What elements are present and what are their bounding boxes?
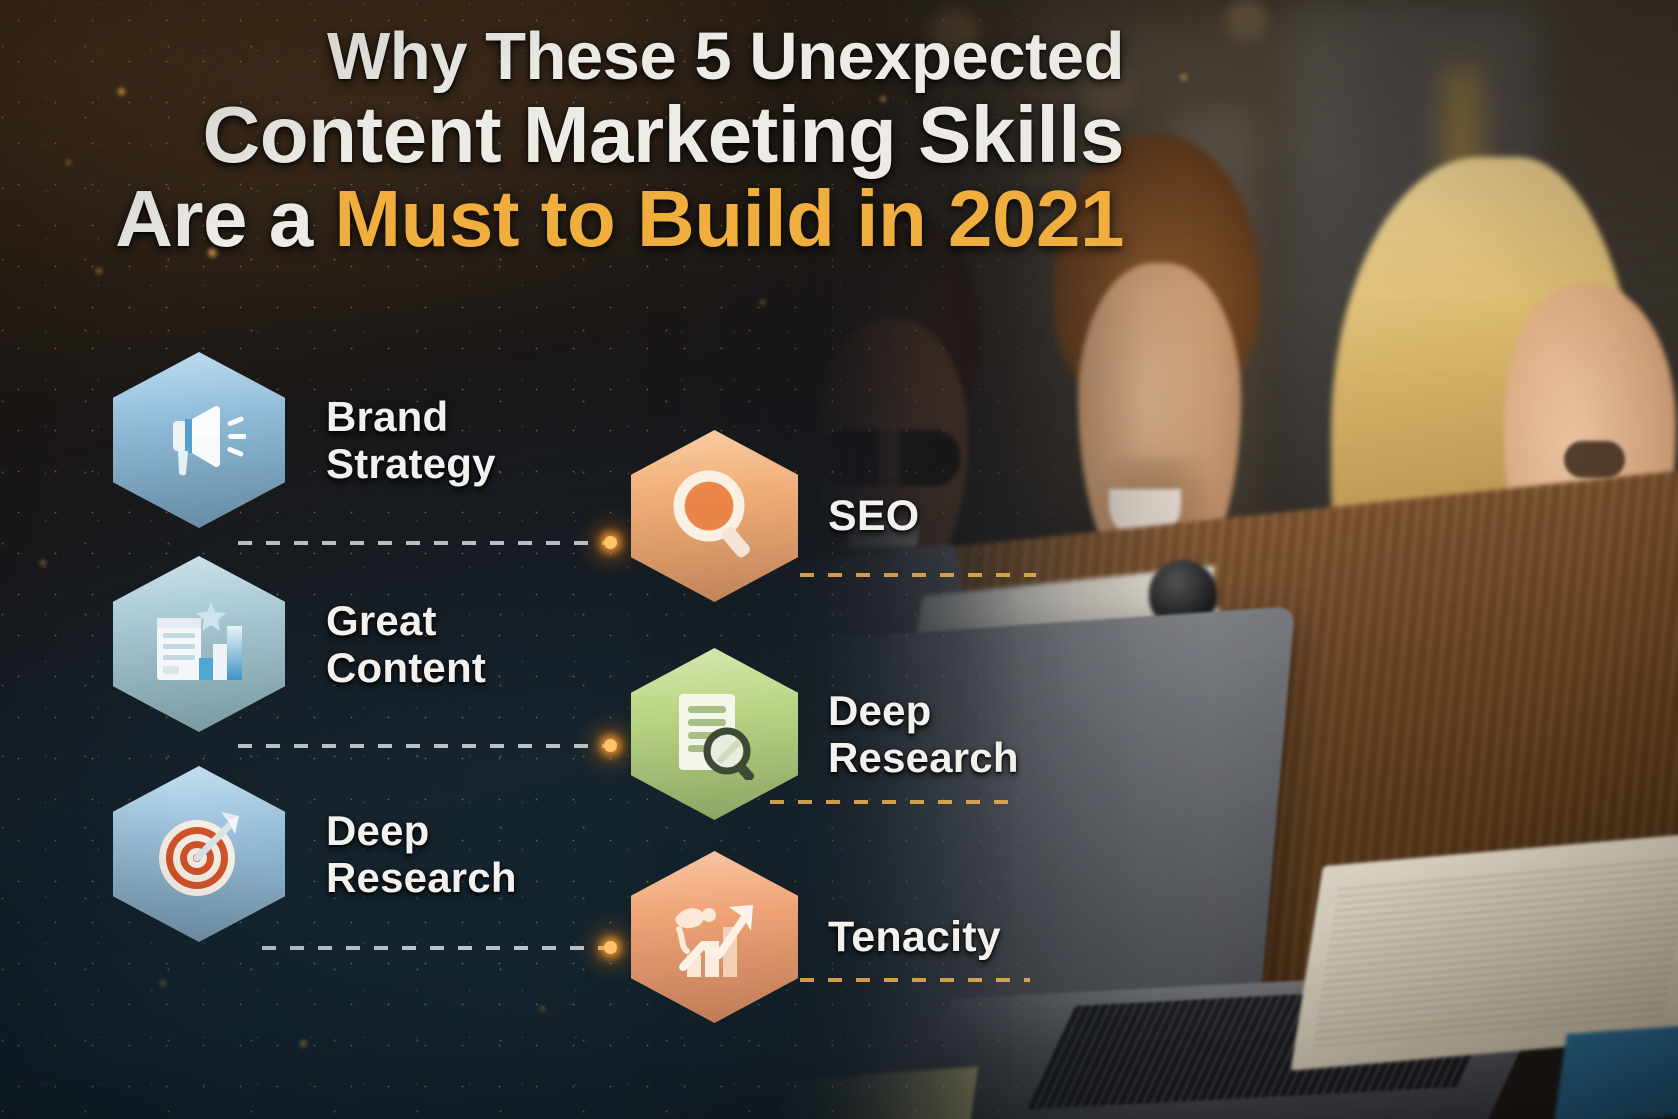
skill-seo[interactable]: SEO	[631, 430, 919, 602]
connector-brand-strategy	[238, 541, 610, 545]
skill-label-tenacity: Tenacity	[828, 913, 1001, 961]
skill-label-deep-research-left: Deep Research	[326, 807, 517, 901]
badge-seo[interactable]	[631, 430, 798, 602]
infographic-canvas: Why These 5 Unexpected Content Marketing…	[0, 0, 1678, 1119]
skill-deep-research-left[interactable]: Deep Research	[113, 766, 517, 942]
skill-deep-research-right[interactable]: Deep Research	[631, 648, 1019, 820]
skill-label-great-content: Great Content	[326, 597, 486, 691]
connector-dot-2	[604, 739, 617, 752]
document-magnifier-icon	[669, 688, 761, 780]
skill-brand-strategy[interactable]: Brand Strategy	[113, 352, 496, 528]
teal-book	[1554, 1023, 1678, 1119]
title-line-1: Why These 5 Unexpected	[0, 24, 1124, 90]
title-line-3-plain: Are a	[115, 174, 334, 263]
skill-tenacity[interactable]: Tenacity	[631, 851, 1001, 1023]
connector-dot-3	[604, 941, 617, 954]
badge-tenacity[interactable]	[631, 851, 798, 1023]
document-chart-star-icon	[149, 600, 249, 688]
badge-brand-strategy[interactable]	[113, 352, 285, 528]
connector-great-content	[238, 744, 610, 748]
skill-great-content[interactable]: Great Content	[113, 556, 486, 732]
connector-deep-research-left	[262, 946, 610, 950]
connector-dot-1	[604, 536, 617, 549]
skill-label-seo: SEO	[828, 492, 919, 540]
title-line-3-accent: Must to Build in 2021	[334, 174, 1124, 263]
megaphone-icon	[152, 401, 246, 479]
growth-chart-icon	[667, 893, 763, 981]
badge-great-content[interactable]	[113, 556, 285, 732]
badge-deep-research-left[interactable]	[113, 766, 285, 942]
badge-deep-research-right[interactable]	[631, 648, 798, 820]
notebook-handwriting	[1313, 856, 1678, 1046]
page-title: Why These 5 Unexpected Content Marketing…	[0, 24, 1160, 258]
skill-label-brand-strategy: Brand Strategy	[326, 393, 496, 487]
target-arrow-icon	[151, 806, 247, 902]
title-line-3: Are a Must to Build in 2021	[0, 179, 1124, 258]
skill-label-deep-research-right: Deep Research	[828, 687, 1019, 781]
magnifier-icon	[671, 470, 759, 562]
person-right-eye	[1564, 441, 1624, 478]
title-line-2: Content Marketing Skills	[0, 95, 1124, 174]
